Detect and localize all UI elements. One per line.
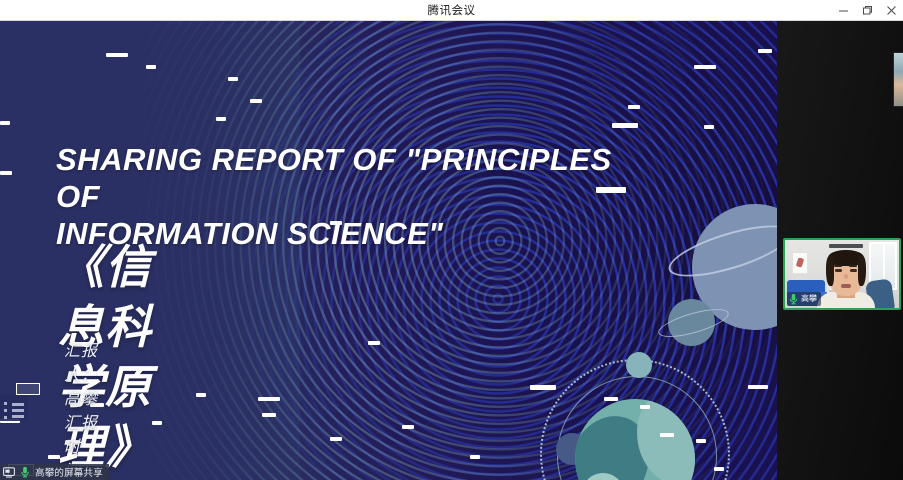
video-tile-partial[interactable]	[893, 52, 903, 107]
close-button[interactable]	[879, 0, 903, 21]
decor-dash	[748, 385, 768, 389]
decor-dash	[612, 123, 638, 128]
decor-dash	[0, 171, 12, 175]
video-tile-badge: 高攀	[787, 292, 821, 306]
earth-graphic	[540, 361, 730, 480]
microphone-icon	[789, 293, 798, 305]
screen-share-status-bar[interactable]: 高攀的屏幕共享	[0, 464, 109, 480]
decor-dash	[216, 117, 226, 121]
decor-dash	[640, 405, 650, 409]
decor-dash	[402, 425, 414, 429]
minimize-button[interactable]	[831, 0, 855, 21]
maximize-button[interactable]	[855, 0, 879, 21]
decor-dash	[330, 437, 342, 441]
decor-dash	[694, 65, 716, 69]
presentation-slide: SHARING REPORT OF "PRINCIPLES OF INFORMA…	[0, 21, 777, 480]
window-title: 腾讯会议	[428, 2, 476, 18]
decor-dash	[714, 467, 724, 471]
decor-code-block	[0, 395, 28, 421]
decor-dash	[106, 53, 128, 57]
tencent-meeting-window: 腾讯会议	[0, 0, 903, 480]
decor-dash	[530, 385, 556, 390]
restore-icon	[862, 5, 873, 16]
decor-dash	[196, 393, 206, 397]
decor-dash	[604, 397, 618, 401]
decor-dash	[0, 121, 10, 125]
decor-dash	[704, 125, 714, 129]
meeting-stage: SHARING REPORT OF "PRINCIPLES OF INFORMA…	[0, 21, 903, 480]
decor-dash	[660, 433, 674, 437]
decor-dash	[470, 455, 480, 459]
video-tile-name: 高攀	[801, 295, 817, 303]
screen-share-icon	[3, 467, 15, 478]
close-icon	[886, 5, 897, 16]
decor-dash	[368, 341, 380, 345]
decor-outline-box	[16, 383, 40, 395]
window-controls	[831, 0, 903, 21]
decor-dash	[250, 99, 262, 103]
video-tile-active-speaker[interactable]: 高攀	[783, 238, 901, 310]
decor-dash	[152, 421, 162, 425]
decor-dash	[262, 413, 276, 417]
decor-dash	[258, 397, 280, 401]
decor-dash	[696, 439, 706, 443]
decor-dash	[146, 65, 156, 69]
screen-share-label: 高攀的屏幕共享	[35, 465, 103, 479]
minimize-icon	[838, 5, 849, 16]
window-title-bar: 腾讯会议	[0, 0, 903, 21]
decor-dash	[228, 77, 238, 81]
decor-dash	[628, 105, 640, 109]
decor-dash	[758, 49, 772, 53]
slide-subtitle-presenter: 汇报人：高攀 汇报时间：2022年4月9日	[64, 337, 109, 480]
microphone-icon	[20, 466, 30, 478]
slide-title-english: SHARING REPORT OF "PRINCIPLES OF INFORMA…	[56, 141, 656, 252]
shared-screen-region[interactable]: SHARING REPORT OF "PRINCIPLES OF INFORMA…	[0, 21, 777, 480]
moon-upper	[626, 352, 652, 378]
